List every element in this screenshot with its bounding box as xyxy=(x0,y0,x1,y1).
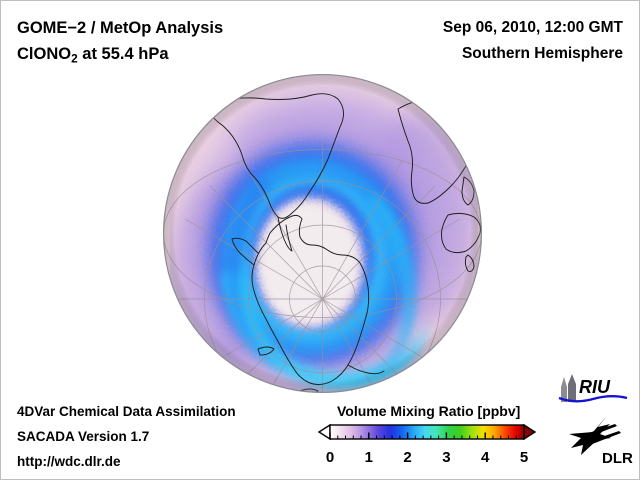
dlr-logo: DLR xyxy=(567,414,633,466)
figure-canvas: GOME−2 / MetOp Analysis ClONO2 at 55.4 h… xyxy=(0,0,640,480)
riu-logo: RIU xyxy=(557,374,629,404)
colorbar-extend-high xyxy=(524,425,535,439)
colorbar xyxy=(317,424,537,440)
globe-svg xyxy=(162,73,483,394)
colorbar-extend-low xyxy=(319,425,330,439)
riu-wordmark: RIU xyxy=(579,377,611,397)
pressure-level: at 55.4 hPa xyxy=(78,45,169,63)
dlr-wordmark: DLR xyxy=(602,450,633,466)
species-pressure-label: ClONO2 at 55.4 hPa xyxy=(17,45,169,65)
colorbar-tick-label: 2 xyxy=(403,449,411,466)
url-label[interactable]: http://wdc.dlr.de xyxy=(17,454,121,469)
colorbar-svg xyxy=(317,424,537,440)
colorbar-tick-label: 4 xyxy=(481,449,489,466)
region-label: Southern Hemisphere xyxy=(462,45,623,63)
version-label: SACADA Version 1.7 xyxy=(17,429,149,444)
colorbar-tick-label: 5 xyxy=(520,449,528,466)
species-subscript: 2 xyxy=(71,51,78,65)
colorbar-tick-label: 3 xyxy=(442,449,450,466)
analysis-title: GOME−2 / MetOp Analysis xyxy=(17,19,223,38)
colorbar-title: Volume Mixing Ratio [ppbv] xyxy=(337,403,520,419)
species-name: ClONO xyxy=(17,45,71,63)
datetime-label: Sep 06, 2010, 12:00 GMT xyxy=(443,19,623,37)
colorbar-tick-label: 1 xyxy=(365,449,373,466)
method-label: 4DVar Chemical Data Assimilation xyxy=(17,404,236,419)
south-polar-globe xyxy=(162,73,483,394)
colorbar-tick-label: 0 xyxy=(326,449,334,466)
